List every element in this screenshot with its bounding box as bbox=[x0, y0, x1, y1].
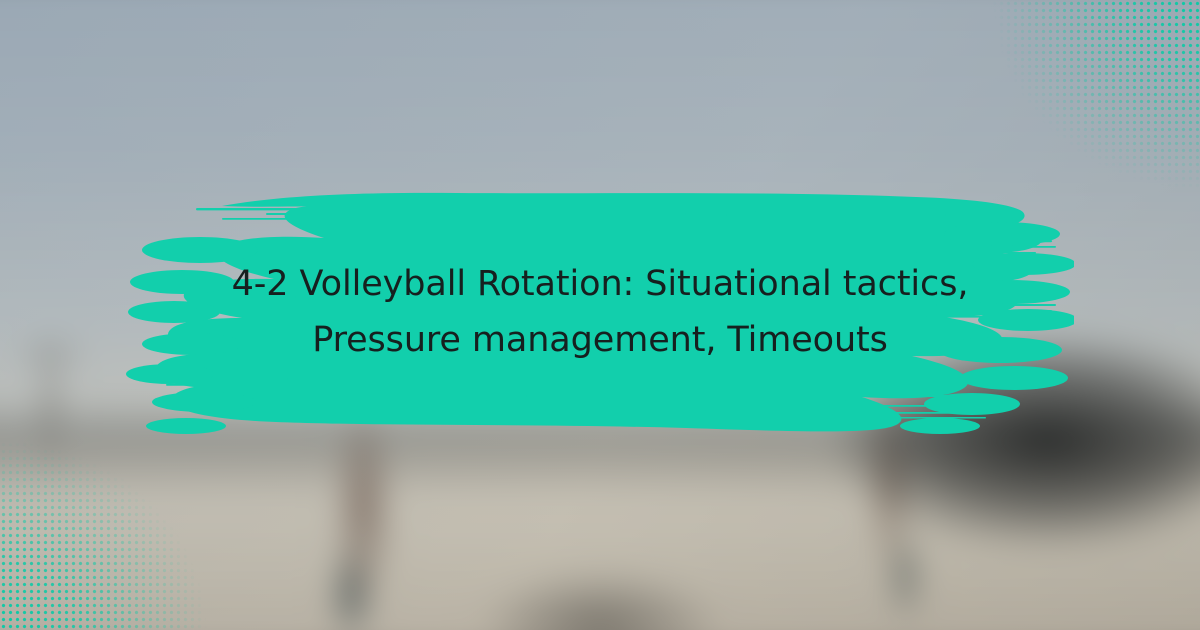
page-title: 4-2 Volleyball Rotation: Situational tac… bbox=[126, 178, 1074, 446]
title-line-2: Pressure management, Timeouts bbox=[312, 312, 888, 368]
social-card: 4-2 Volleyball Rotation: Situational tac… bbox=[0, 0, 1200, 630]
title-line-1: 4-2 Volleyball Rotation: Situational tac… bbox=[232, 256, 969, 312]
title-banner: 4-2 Volleyball Rotation: Situational tac… bbox=[126, 178, 1074, 446]
